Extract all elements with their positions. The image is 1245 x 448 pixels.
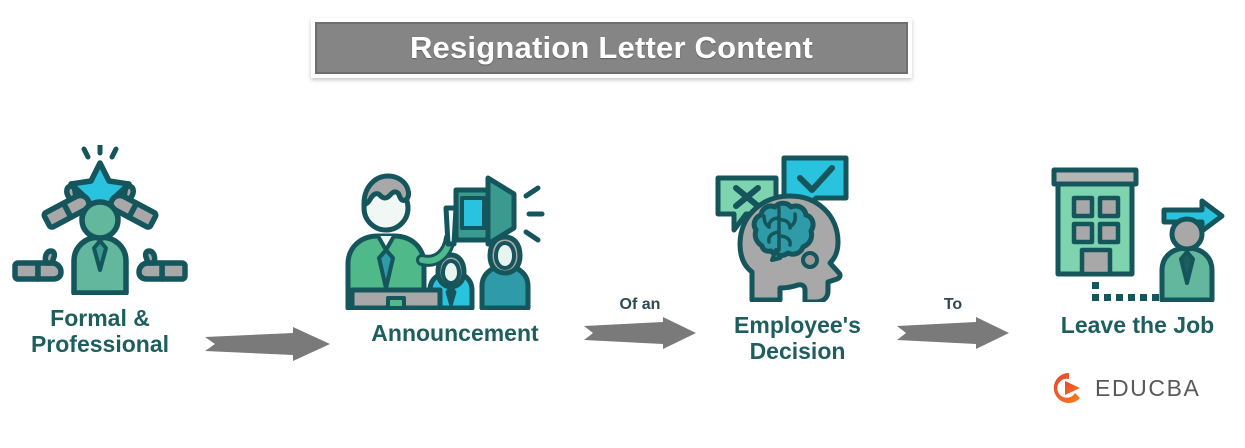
step-label-employees-decision: Employee's Decision — [700, 313, 895, 365]
connector-1 — [205, 307, 330, 361]
step-employees-decision: Employee's Decision — [700, 152, 895, 365]
connector-2: Of an — [580, 297, 700, 349]
step-label-announcement: Announcement — [330, 321, 580, 347]
page-title: Resignation Letter Content — [410, 30, 813, 66]
step-leave-the-job: Leave the Job — [1030, 152, 1245, 339]
right-arrow-icon — [205, 327, 330, 361]
step-formal-professional: Formal & Professional — [0, 145, 200, 358]
educba-logo-text: EDUCBA — [1095, 375, 1200, 402]
connector-3: To — [893, 297, 1013, 349]
step-label-leave-the-job: Leave the Job — [1030, 313, 1245, 339]
step-announcement: Announcement — [330, 160, 580, 347]
title-banner-inner: Resignation Letter Content — [315, 22, 908, 74]
educba-play-mark-icon — [1052, 371, 1086, 405]
step-label-formal-professional: Formal & Professional — [0, 306, 200, 358]
person-with-star-and-thumbs-up-icon — [0, 145, 200, 300]
title-banner: Resignation Letter Content — [311, 18, 912, 78]
connector-2-label: Of an — [580, 297, 700, 315]
right-arrow-icon — [897, 317, 1009, 349]
office-building-with-departing-employee-icon — [1030, 152, 1245, 307]
educba-logo: EDUCBA — [1052, 371, 1200, 405]
right-arrow-icon — [584, 317, 696, 349]
man-with-megaphone-and-audience-icon — [330, 160, 580, 315]
connector-3-label: To — [893, 297, 1013, 315]
head-with-brain-and-decision-bubbles-icon — [700, 152, 895, 307]
